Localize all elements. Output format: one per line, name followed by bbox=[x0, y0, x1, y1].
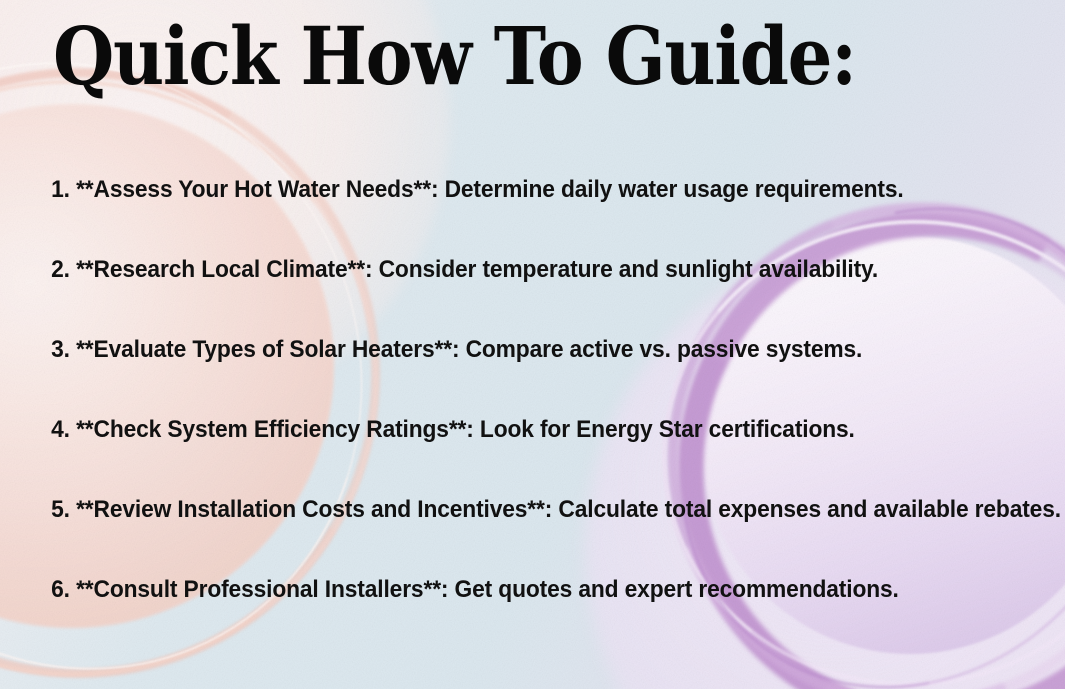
list-item: 2. **Research Local Climate**: Consider … bbox=[0, 230, 990, 310]
list-item-text: 1. **Assess Your Hot Water Needs**: Dete… bbox=[51, 177, 903, 203]
poster-content: Quick How To Guide: 1. **Assess Your Hot… bbox=[0, 0, 1065, 689]
list-item-text: 4. **Check System Efficiency Ratings**: … bbox=[51, 417, 855, 443]
list-item-text: 2. **Research Local Climate**: Consider … bbox=[51, 257, 878, 283]
list-item: 5. **Review Installation Costs and Incen… bbox=[0, 470, 990, 550]
page-title: Quick How To Guide: bbox=[53, 14, 856, 98]
list-item: 1. **Assess Your Hot Water Needs**: Dete… bbox=[0, 150, 990, 230]
steps-list: 1. **Assess Your Hot Water Needs**: Dete… bbox=[0, 150, 1065, 630]
list-item-text: 3. **Evaluate Types of Solar Heaters**: … bbox=[51, 337, 862, 363]
list-item-text: 5. **Review Installation Costs and Incen… bbox=[51, 497, 1061, 523]
list-item: 6. **Consult Professional Installers**: … bbox=[0, 550, 990, 630]
list-item-text: 6. **Consult Professional Installers**: … bbox=[51, 577, 899, 603]
list-item: 4. **Check System Efficiency Ratings**: … bbox=[0, 390, 990, 470]
list-item: 3. **Evaluate Types of Solar Heaters**: … bbox=[0, 310, 990, 390]
poster-canvas: Quick How To Guide: 1. **Assess Your Hot… bbox=[0, 0, 1065, 689]
